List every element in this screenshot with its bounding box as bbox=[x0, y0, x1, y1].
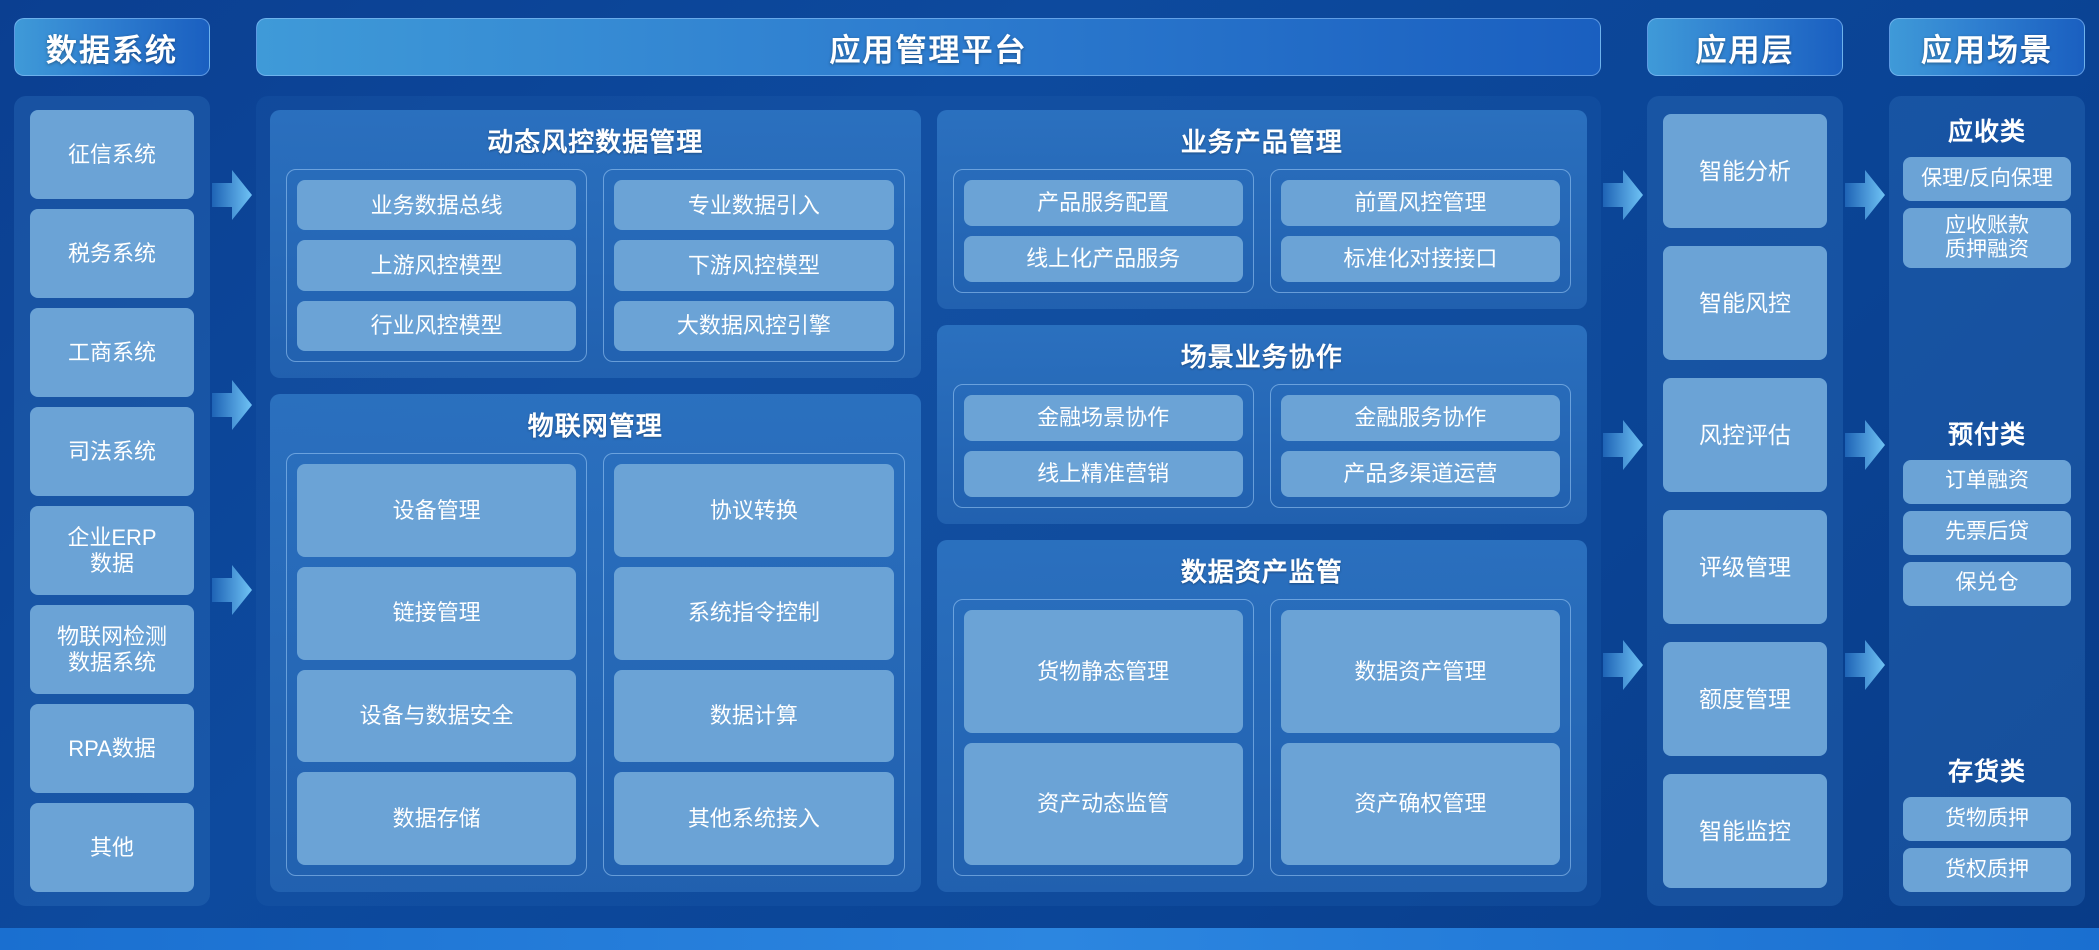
list-item[interactable]: 订单融资 bbox=[1903, 460, 2071, 504]
list-item[interactable]: 产品多渠道运营 bbox=[1281, 451, 1560, 497]
list-item[interactable]: 物联网检测 数据系统 bbox=[30, 605, 194, 694]
list-item[interactable]: 标准化对接接口 bbox=[1281, 236, 1560, 282]
app-layer-list: 智能分析 智能风控 风控评估 评级管理 额度管理 智能监控 bbox=[1647, 96, 1843, 906]
list-item[interactable]: 智能监控 bbox=[1663, 774, 1827, 888]
list-item[interactable]: RPA数据 bbox=[30, 704, 194, 793]
list-item[interactable]: 数据计算 bbox=[614, 670, 893, 763]
list-item[interactable]: 金融场景协作 bbox=[964, 395, 1243, 441]
platform-left-side: 动态风控数据管理 业务数据总线 上游风控模型 行业风控模型 专业数据引入 下游风… bbox=[270, 110, 921, 892]
group-dynamic-risk-data-management: 动态风控数据管理 业务数据总线 上游风控模型 行业风控模型 专业数据引入 下游风… bbox=[270, 110, 921, 378]
list-item[interactable]: 专业数据引入 bbox=[614, 180, 893, 230]
arrow-right-icon bbox=[212, 378, 252, 432]
data-systems-list: 征信系统 税务系统 工商系统 司法系统 企业ERP 数据 物联网检测 数据系统 … bbox=[14, 96, 210, 906]
scene-group-prepayment: 预付类 订单融资 先票后贷 保兑仓 bbox=[1903, 409, 2071, 606]
subgroup: 数据资产管理 资产确权管理 bbox=[1270, 599, 1571, 876]
list-item[interactable]: 先票后贷 bbox=[1903, 511, 2071, 555]
column-header-platform: 应用管理平台 bbox=[256, 18, 1601, 76]
subgroup: 协议转换 系统指令控制 数据计算 其他系统接入 bbox=[603, 453, 904, 876]
list-item[interactable]: 数据资产管理 bbox=[1281, 610, 1560, 733]
column-header-data-systems: 数据系统 bbox=[14, 18, 210, 76]
list-item[interactable]: 行业风控模型 bbox=[297, 301, 576, 351]
subgroup: 业务数据总线 上游风控模型 行业风控模型 bbox=[286, 169, 587, 362]
list-item[interactable]: 货物质押 bbox=[1903, 797, 2071, 841]
subgroup: 金融服务协作 产品多渠道运营 bbox=[1270, 384, 1571, 508]
connector-group-data-to-platform bbox=[210, 18, 256, 906]
scene-group-title: 应收类 bbox=[1903, 106, 2071, 150]
arrow-right-icon bbox=[212, 563, 252, 617]
list-item[interactable]: 数据存储 bbox=[297, 772, 576, 865]
column-scenarios: 应用场景 应收类 保理/反向保理 应收账款 质押融资 预付类 订单融资 先票后贷… bbox=[1889, 18, 2085, 906]
list-item[interactable]: 其他系统接入 bbox=[614, 772, 893, 865]
list-item[interactable]: 额度管理 bbox=[1663, 642, 1827, 756]
list-item[interactable]: 前置风控管理 bbox=[1281, 180, 1560, 226]
list-item[interactable]: 链接管理 bbox=[297, 567, 576, 660]
scene-group-title: 预付类 bbox=[1903, 409, 2071, 453]
subgroup: 设备管理 链接管理 设备与数据安全 数据存储 bbox=[286, 453, 587, 876]
list-item[interactable]: 企业ERP 数据 bbox=[30, 506, 194, 595]
list-item[interactable]: 金融服务协作 bbox=[1281, 395, 1560, 441]
list-item[interactable]: 产品服务配置 bbox=[964, 180, 1243, 226]
list-item[interactable]: 货权质押 bbox=[1903, 848, 2071, 892]
group-iot-management: 物联网管理 设备管理 链接管理 设备与数据安全 数据存储 协议转换 系统指令控制… bbox=[270, 394, 921, 892]
list-item[interactable]: 税务系统 bbox=[30, 209, 194, 298]
list-item[interactable]: 协议转换 bbox=[614, 464, 893, 557]
arrow-right-icon bbox=[1845, 638, 1885, 692]
scenarios-body: 应收类 保理/反向保理 应收账款 质押融资 预付类 订单融资 先票后贷 保兑仓 … bbox=[1889, 96, 2085, 906]
group-scenario-business-collaboration: 场景业务协作 金融场景协作 线上精准营销 金融服务协作 产品多渠道运营 bbox=[937, 325, 1588, 524]
list-item[interactable]: 保理/反向保理 bbox=[1903, 157, 2071, 201]
subgroup: 专业数据引入 下游风控模型 大数据风控引擎 bbox=[603, 169, 904, 362]
group-business-product-management: 业务产品管理 产品服务配置 线上化产品服务 前置风控管理 标准化对接接口 bbox=[937, 110, 1588, 309]
scene-group-title: 存货类 bbox=[1903, 746, 2071, 790]
subgroup: 前置风控管理 标准化对接接口 bbox=[1270, 169, 1571, 293]
arrow-right-icon bbox=[1603, 168, 1643, 222]
connector-group-applayer-to-scenarios bbox=[1843, 18, 1889, 906]
list-item[interactable]: 智能风控 bbox=[1663, 246, 1827, 360]
list-item[interactable]: 线上化产品服务 bbox=[964, 236, 1243, 282]
list-item[interactable]: 大数据风控引擎 bbox=[614, 301, 893, 351]
list-item[interactable]: 设备与数据安全 bbox=[297, 670, 576, 763]
scene-group-inventory: 存货类 货物质押 货权质押 bbox=[1903, 746, 2071, 892]
arrow-right-icon bbox=[1603, 638, 1643, 692]
group-data-asset-supervision: 数据资产监管 货物静态管理 资产动态监管 数据资产管理 资产确权管理 bbox=[937, 540, 1588, 892]
group-title: 动态风控数据管理 bbox=[286, 122, 905, 159]
list-item[interactable]: 智能分析 bbox=[1663, 114, 1827, 228]
architecture-diagram: 数据系统 征信系统 税务系统 工商系统 司法系统 企业ERP 数据 物联网检测 … bbox=[0, 0, 2099, 950]
connector-group-platform-to-applayer bbox=[1601, 18, 1647, 906]
column-data-systems: 数据系统 征信系统 税务系统 工商系统 司法系统 企业ERP 数据 物联网检测 … bbox=[14, 18, 210, 906]
platform-right-side: 业务产品管理 产品服务配置 线上化产品服务 前置风控管理 标准化对接接口 场景业… bbox=[937, 110, 1588, 892]
platform-body: 动态风控数据管理 业务数据总线 上游风控模型 行业风控模型 专业数据引入 下游风… bbox=[256, 96, 1601, 906]
list-item[interactable]: 上游风控模型 bbox=[297, 240, 576, 290]
list-item[interactable]: 评级管理 bbox=[1663, 510, 1827, 624]
list-item[interactable]: 保兑仓 bbox=[1903, 562, 2071, 606]
subgroup: 货物静态管理 资产动态监管 bbox=[953, 599, 1254, 876]
list-item[interactable]: 资产确权管理 bbox=[1281, 743, 1560, 866]
subgroup: 产品服务配置 线上化产品服务 bbox=[953, 169, 1254, 293]
list-item[interactable]: 征信系统 bbox=[30, 110, 194, 199]
group-title: 物联网管理 bbox=[286, 406, 905, 443]
list-item[interactable]: 资产动态监管 bbox=[964, 743, 1243, 866]
column-platform: 应用管理平台 动态风控数据管理 业务数据总线 上游风控模型 行业风控模型 专业数… bbox=[256, 18, 1601, 906]
list-item[interactable]: 风控评估 bbox=[1663, 378, 1827, 492]
group-title: 场景业务协作 bbox=[953, 337, 1572, 374]
arrow-right-icon bbox=[1845, 418, 1885, 472]
bottom-accent-band bbox=[0, 928, 2099, 950]
column-app-layer: 应用层 智能分析 智能风控 风控评估 评级管理 额度管理 智能监控 bbox=[1647, 18, 1843, 906]
arrow-right-icon bbox=[1845, 168, 1885, 222]
subgroup: 金融场景协作 线上精准营销 bbox=[953, 384, 1254, 508]
group-title: 业务产品管理 bbox=[953, 122, 1572, 159]
list-item[interactable]: 货物静态管理 bbox=[964, 610, 1243, 733]
list-item[interactable]: 应收账款 质押融资 bbox=[1903, 208, 2071, 268]
scene-group-receivables: 应收类 保理/反向保理 应收账款 质押融资 bbox=[1903, 106, 2071, 268]
list-item[interactable]: 系统指令控制 bbox=[614, 567, 893, 660]
arrow-right-icon bbox=[1603, 418, 1643, 472]
group-title: 数据资产监管 bbox=[953, 552, 1572, 589]
list-item[interactable]: 线上精准营销 bbox=[964, 451, 1243, 497]
list-item[interactable]: 设备管理 bbox=[297, 464, 576, 557]
list-item[interactable]: 业务数据总线 bbox=[297, 180, 576, 230]
list-item[interactable]: 司法系统 bbox=[30, 407, 194, 496]
column-header-app-layer: 应用层 bbox=[1647, 18, 1843, 76]
list-item[interactable]: 其他 bbox=[30, 803, 194, 892]
list-item[interactable]: 工商系统 bbox=[30, 308, 194, 397]
list-item[interactable]: 下游风控模型 bbox=[614, 240, 893, 290]
arrow-right-icon bbox=[212, 168, 252, 222]
column-header-scenarios: 应用场景 bbox=[1889, 18, 2085, 76]
